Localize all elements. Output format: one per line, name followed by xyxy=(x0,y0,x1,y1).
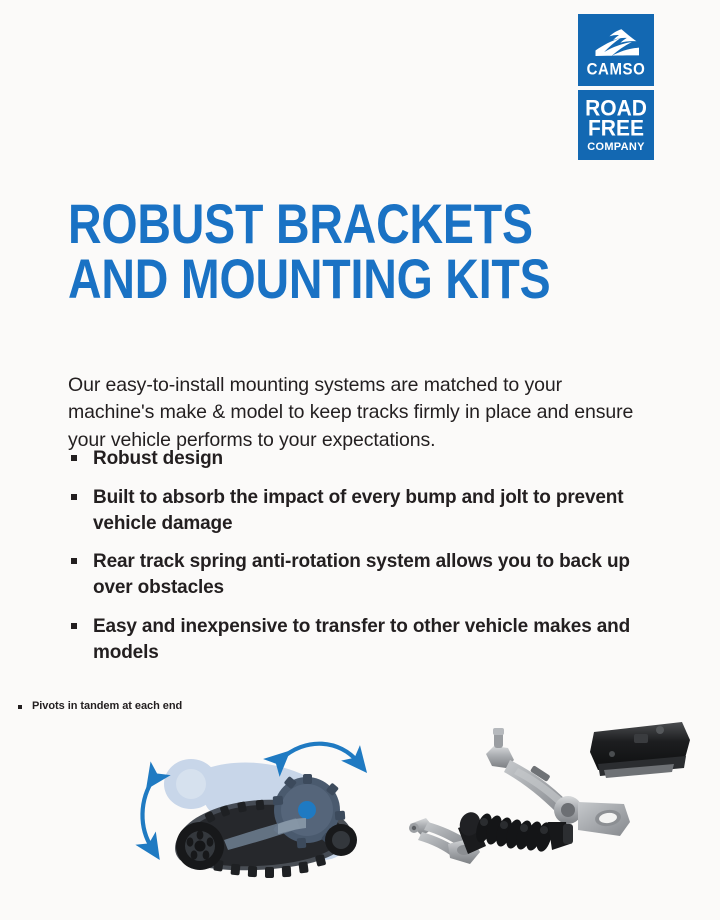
camso-wordmark: CAMSO xyxy=(587,61,646,77)
figure-caption-label: Pivots in tandem at each end xyxy=(32,700,182,712)
headline-line-1: ROBUST BRACKETS xyxy=(68,197,589,252)
mounting-bracket-hardware-photo xyxy=(398,718,698,888)
list-item-label: Easy and inexpensive to transfer to othe… xyxy=(93,616,630,663)
square-bullet-icon xyxy=(71,455,77,461)
poster-page: CAMSO ROAD FREE COMPANY ROBUST BRACKETS … xyxy=(0,0,720,920)
figure-caption: Pivots in tandem at each end xyxy=(18,700,182,712)
list-item: Rear track spring anti-rotation system a… xyxy=(68,549,640,601)
tagline-free: FREE xyxy=(588,118,644,139)
list-item: Easy and inexpensive to transfer to othe… xyxy=(68,614,640,666)
square-bullet-icon xyxy=(18,705,22,709)
list-item-label: Robust design xyxy=(93,448,223,469)
intro-paragraph: Our easy-to-install mounting systems are… xyxy=(68,372,636,455)
list-item: Built to absorb the impact of every bump… xyxy=(68,485,640,537)
camso-mountain-mark-icon xyxy=(593,28,639,58)
list-item-label: Built to absorb the impact of every bump… xyxy=(93,487,623,534)
rubber-track-system-pivot-diagram xyxy=(128,728,393,888)
camso-logo-block: CAMSO ROAD FREE COMPANY xyxy=(578,14,654,160)
square-bullet-icon xyxy=(71,623,77,629)
headline-line-2: AND MOUNTING KITS xyxy=(68,251,589,306)
list-item: Robust design xyxy=(68,446,640,472)
feature-bullet-list: Robust design Built to absorb the impact… xyxy=(68,446,640,679)
square-bullet-icon xyxy=(71,494,77,500)
page-title: ROBUST BRACKETS AND MOUNTING KITS xyxy=(68,197,589,307)
list-item-label: Rear track spring anti-rotation system a… xyxy=(93,551,630,598)
tagline-company: COMPANY xyxy=(587,142,645,152)
square-bullet-icon xyxy=(71,558,77,564)
camso-logo-tile: CAMSO xyxy=(578,14,654,86)
figure-area xyxy=(0,718,720,908)
road-free-company-tile: ROAD FREE COMPANY xyxy=(578,90,654,160)
